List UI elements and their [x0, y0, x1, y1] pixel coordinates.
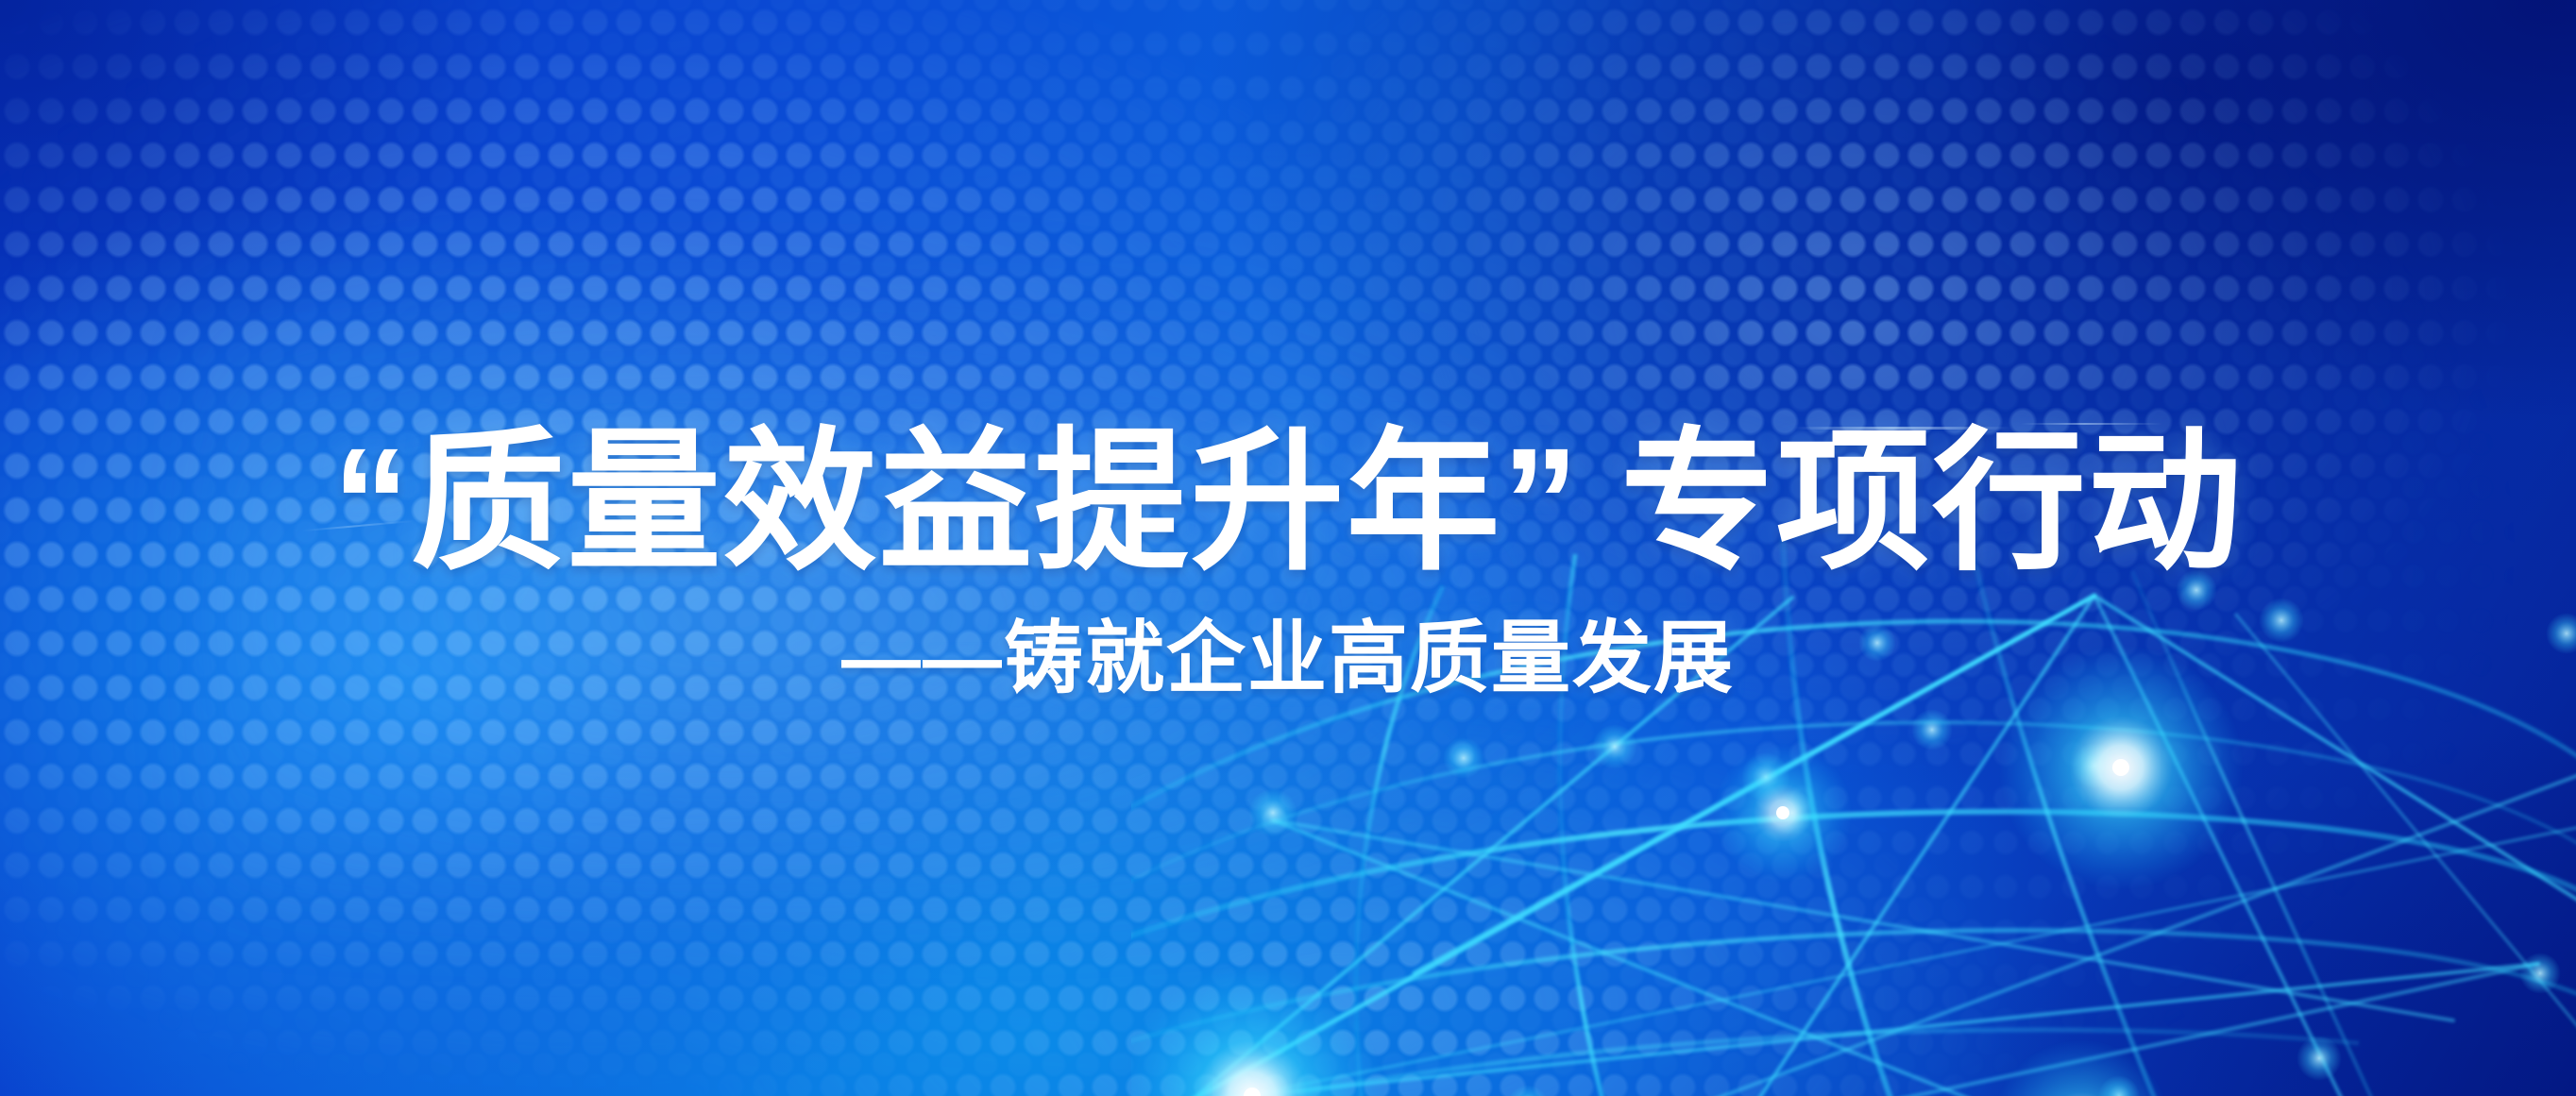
- promotional-banner: “质量效益提升年”专项行动 ——铸就企业高质量发展: [0, 0, 2576, 1096]
- headline-quoted-phrase: “质量效益提升年”: [332, 415, 1581, 588]
- headline-suffix: 专项行动: [1620, 415, 2244, 588]
- banner-subtitle: ——铸就企业高质量发展: [0, 613, 2576, 704]
- banner-headline: “质量效益提升年”专项行动: [0, 421, 2576, 584]
- banner-text-block: “质量效益提升年”专项行动 ——铸就企业高质量发展: [0, 0, 2576, 703]
